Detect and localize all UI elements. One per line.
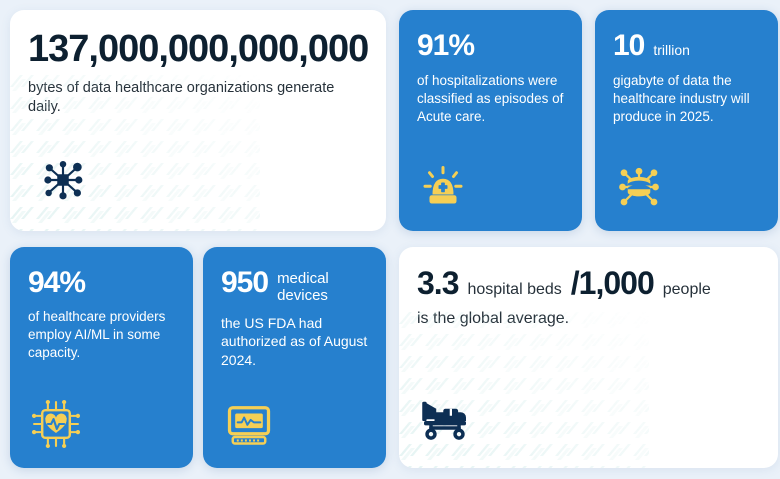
stat-unit: medical devices bbox=[277, 267, 329, 305]
stat-unit-line-2: devices bbox=[277, 287, 328, 304]
stat-headline: 950 medical devices bbox=[221, 267, 368, 305]
stat-value: 950 bbox=[221, 267, 268, 299]
stat-card-gigabytes-produced-2025: 10 trillion gigabyte of data the healthc… bbox=[595, 10, 778, 231]
stat-unit: trillion bbox=[653, 42, 690, 58]
ai-chip-heart-icon bbox=[30, 398, 82, 450]
stat-card-providers-employ-ai-ml: 94% of healthcare providers employ AI/ML… bbox=[10, 247, 193, 468]
database-network-icon bbox=[615, 163, 663, 211]
stat-unit-line-1: medical bbox=[277, 270, 329, 287]
stat-label-people: people bbox=[663, 281, 711, 299]
stat-value: 94% bbox=[28, 267, 175, 299]
network-hub-icon bbox=[40, 157, 86, 203]
infographic-board: 137,000,000,000,000 bytes of data health… bbox=[0, 0, 780, 479]
emergency-siren-icon bbox=[419, 163, 467, 211]
medical-monitor-icon bbox=[223, 398, 275, 450]
stat-value: 137,000,000,000,000 bbox=[28, 30, 368, 70]
stat-value: 91% bbox=[417, 30, 564, 62]
stat-description: of healthcare providers employ AI/ML in … bbox=[28, 308, 175, 362]
stat-label-hospital-beds: hospital beds bbox=[467, 281, 561, 299]
stat-card-hospital-beds-per-1000: 3.3 hospital beds /1,000 people is the g… bbox=[399, 247, 778, 468]
stat-value: 10 bbox=[613, 30, 644, 62]
stat-description: of hospitalizations were classified as e… bbox=[417, 72, 564, 126]
stat-card-fda-authorized-devices: 950 medical devices the US FDA had autho… bbox=[203, 247, 386, 468]
stat-description: the US FDA had authorized as of August 2… bbox=[221, 314, 368, 370]
stat-headline: 10 trillion bbox=[613, 30, 760, 62]
stat-description: gigabyte of data the healthcare industry… bbox=[613, 72, 760, 126]
stat-card-hospitalizations-acute-care: 91% of hospitalizations were classified … bbox=[399, 10, 582, 231]
stat-card-bytes-of-data: 137,000,000,000,000 bytes of data health… bbox=[10, 10, 386, 231]
stat-description: bytes of data healthcare organizations g… bbox=[28, 79, 358, 118]
stat-description: is the global average. bbox=[417, 308, 747, 329]
stat-headline: 3.3 hospital beds /1,000 people bbox=[417, 267, 760, 301]
stat-value-per-thousand: /1,000 bbox=[571, 267, 654, 301]
stat-value-beds: 3.3 bbox=[417, 267, 458, 301]
hospital-bed-icon bbox=[417, 386, 473, 442]
